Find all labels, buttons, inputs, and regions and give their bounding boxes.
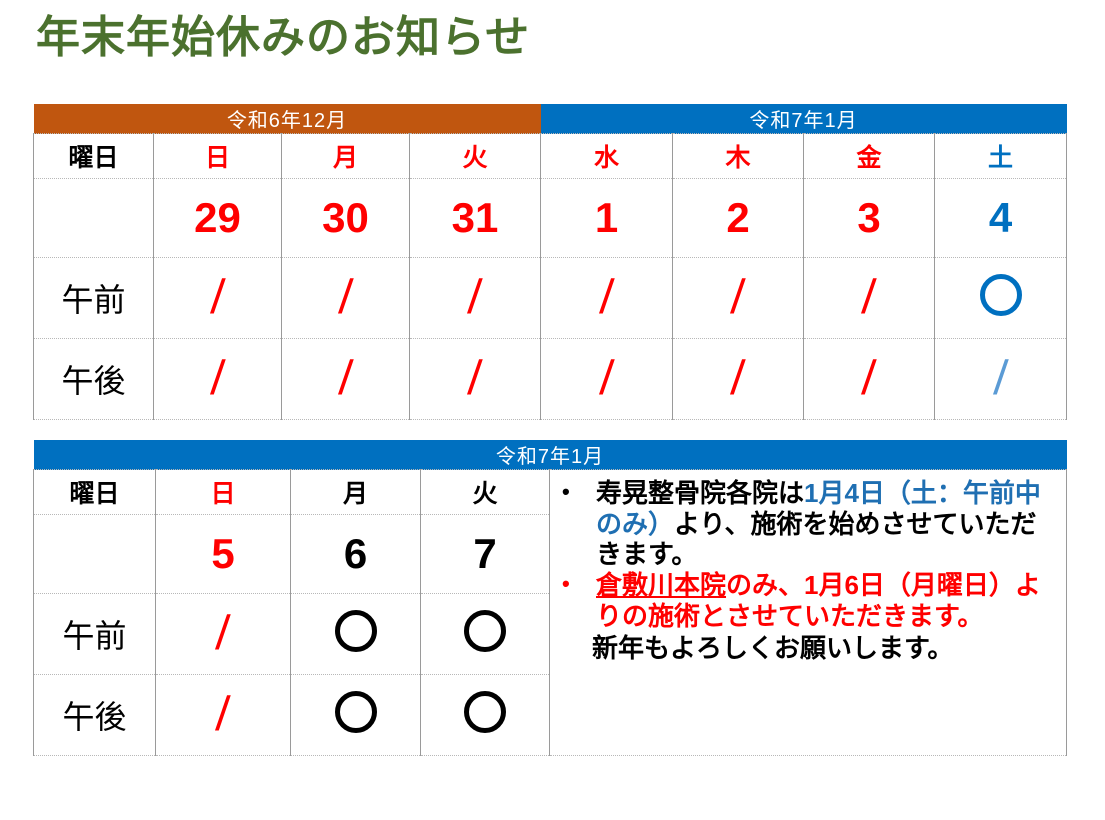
bullet-point-icon: • — [558, 478, 596, 507]
status-cell-pm-31: / — [410, 339, 541, 420]
slash-mark: / — [598, 274, 615, 322]
status-cell-am-2: / — [673, 258, 804, 339]
weekday-tue: 火 — [410, 134, 541, 179]
note-closing: 新年もよろしくお願いします。 — [558, 633, 1060, 664]
weekday-header-row: 曜日 日 月 火 水 木 金 土 — [34, 134, 1067, 179]
row-label-morning: 午前 — [34, 258, 154, 339]
weekday-mon: 月 — [282, 134, 410, 179]
morning-row: 午前 / / / / / / — [34, 258, 1067, 339]
status-cell-pm-4: / — [935, 339, 1067, 420]
weekday-tue-two: 火 — [421, 470, 550, 515]
date-cell-6: 6 — [291, 515, 421, 594]
weekday-sun-two: 日 — [156, 470, 291, 515]
circle-mark — [335, 691, 377, 733]
slash-mark: / — [861, 274, 878, 322]
weekday-fri: 金 — [804, 134, 935, 179]
afternoon-row: 午後 / / / / / / / — [34, 339, 1067, 420]
slash-mark: / — [209, 355, 226, 403]
date-cell-7: 7 — [421, 515, 550, 594]
circle-mark — [464, 691, 506, 733]
slash-mark: / — [467, 355, 484, 403]
status-cell-am-5: / — [156, 594, 291, 675]
date-cell-3: 3 — [804, 179, 935, 258]
note-two-part-a: 倉敷川本院 — [596, 570, 726, 600]
month-banner-row: 令和6年12月 令和7年1月 — [34, 104, 1067, 134]
calendar-table-december-january: 令和6年12月 令和7年1月 曜日 日 月 火 水 木 金 土 29 30 31… — [33, 104, 1067, 420]
notes-cell: • 寿晃整骨院各院は1月4日（土：午前中のみ）より、施術を始めさせていただきます… — [550, 470, 1067, 756]
row-label-morning-two: 午前 — [34, 594, 156, 675]
weekday-sat: 土 — [935, 134, 1067, 179]
status-cell-pm-7 — [421, 675, 550, 756]
month-banner-row-two: 令和7年1月 — [34, 440, 1067, 470]
month-banner-december: 令和6年12月 — [34, 104, 541, 134]
slash-mark: / — [209, 274, 226, 322]
month-banner-january-second: 令和7年1月 — [34, 440, 1067, 470]
status-cell-pm-6 — [291, 675, 421, 756]
status-cell-pm-5: / — [156, 675, 291, 756]
note-one-part-a: 寿晃整骨院各院は — [596, 478, 804, 508]
date-row-label-empty-two — [34, 515, 156, 594]
status-cell-am-30: / — [282, 258, 410, 339]
calendar-table-january-notes: 令和7年1月 曜日 日 月 火 • 寿晃整骨院各院は1月4日（土：午前中のみ）よ… — [33, 440, 1067, 756]
date-row-label-empty — [34, 179, 154, 258]
status-cell-pm-29: / — [154, 339, 282, 420]
row-label-afternoon: 午後 — [34, 339, 154, 420]
status-cell-am-3: / — [804, 258, 935, 339]
slash-mark: / — [992, 355, 1009, 403]
status-cell-pm-2: / — [673, 339, 804, 420]
status-cell-am-4 — [935, 258, 1067, 339]
slash-mark: / — [337, 355, 354, 403]
date-cell-2: 2 — [673, 179, 804, 258]
row-label-afternoon-two: 午後 — [34, 675, 156, 756]
slash-mark: / — [730, 355, 747, 403]
date-cell-30: 30 — [282, 179, 410, 258]
note-one-body: 寿晃整骨院各院は1月4日（土：午前中のみ）より、施術を始めさせていただきます。 — [596, 478, 1060, 570]
weekday-sun: 日 — [154, 134, 282, 179]
date-cell-31: 31 — [410, 179, 541, 258]
weekday-header-row-two: 曜日 日 月 火 • 寿晃整骨院各院は1月4日（土：午前中のみ）より、施術を始め… — [34, 470, 1067, 515]
status-cell-pm-3: / — [804, 339, 935, 420]
date-cell-29: 29 — [154, 179, 282, 258]
note-two-body: 倉敷川本院のみ、1月6日（月曜日）よりの施術とさせていただきます。 — [596, 570, 1060, 631]
month-banner-january: 令和7年1月 — [541, 104, 1067, 134]
weekday-thu: 木 — [673, 134, 804, 179]
status-cell-am-29: / — [154, 258, 282, 339]
date-cell-4: 4 — [935, 179, 1067, 258]
status-cell-am-7 — [421, 594, 550, 675]
bullet-point-icon: • — [558, 570, 596, 599]
weekday-column-label-two: 曜日 — [34, 470, 156, 515]
weekday-mon-two: 月 — [291, 470, 421, 515]
date-cell-5: 5 — [156, 515, 291, 594]
slash-mark: / — [215, 610, 232, 658]
status-cell-am-6 — [291, 594, 421, 675]
slash-mark: / — [598, 355, 615, 403]
circle-mark — [980, 274, 1022, 316]
note-bullet-one: • 寿晃整骨院各院は1月4日（土：午前中のみ）より、施術を始めさせていただきます… — [558, 478, 1060, 570]
slash-mark: / — [730, 274, 747, 322]
circle-mark — [335, 610, 377, 652]
slash-mark: / — [467, 274, 484, 322]
circle-mark — [464, 610, 506, 652]
status-cell-pm-30: / — [282, 339, 410, 420]
slash-mark: / — [215, 691, 232, 739]
slash-mark: / — [337, 274, 354, 322]
slash-mark: / — [861, 355, 878, 403]
weekday-wed: 水 — [541, 134, 673, 179]
note-bullet-two: • 倉敷川本院のみ、1月6日（月曜日）よりの施術とさせていただきます。 — [558, 570, 1060, 631]
status-cell-am-1: / — [541, 258, 673, 339]
date-row: 29 30 31 1 2 3 4 — [34, 179, 1067, 258]
page-title: 年末年始休みのお知らせ — [36, 14, 530, 62]
weekday-column-label: 曜日 — [34, 134, 154, 179]
status-cell-pm-1: / — [541, 339, 673, 420]
date-cell-1: 1 — [541, 179, 673, 258]
status-cell-am-31: / — [410, 258, 541, 339]
